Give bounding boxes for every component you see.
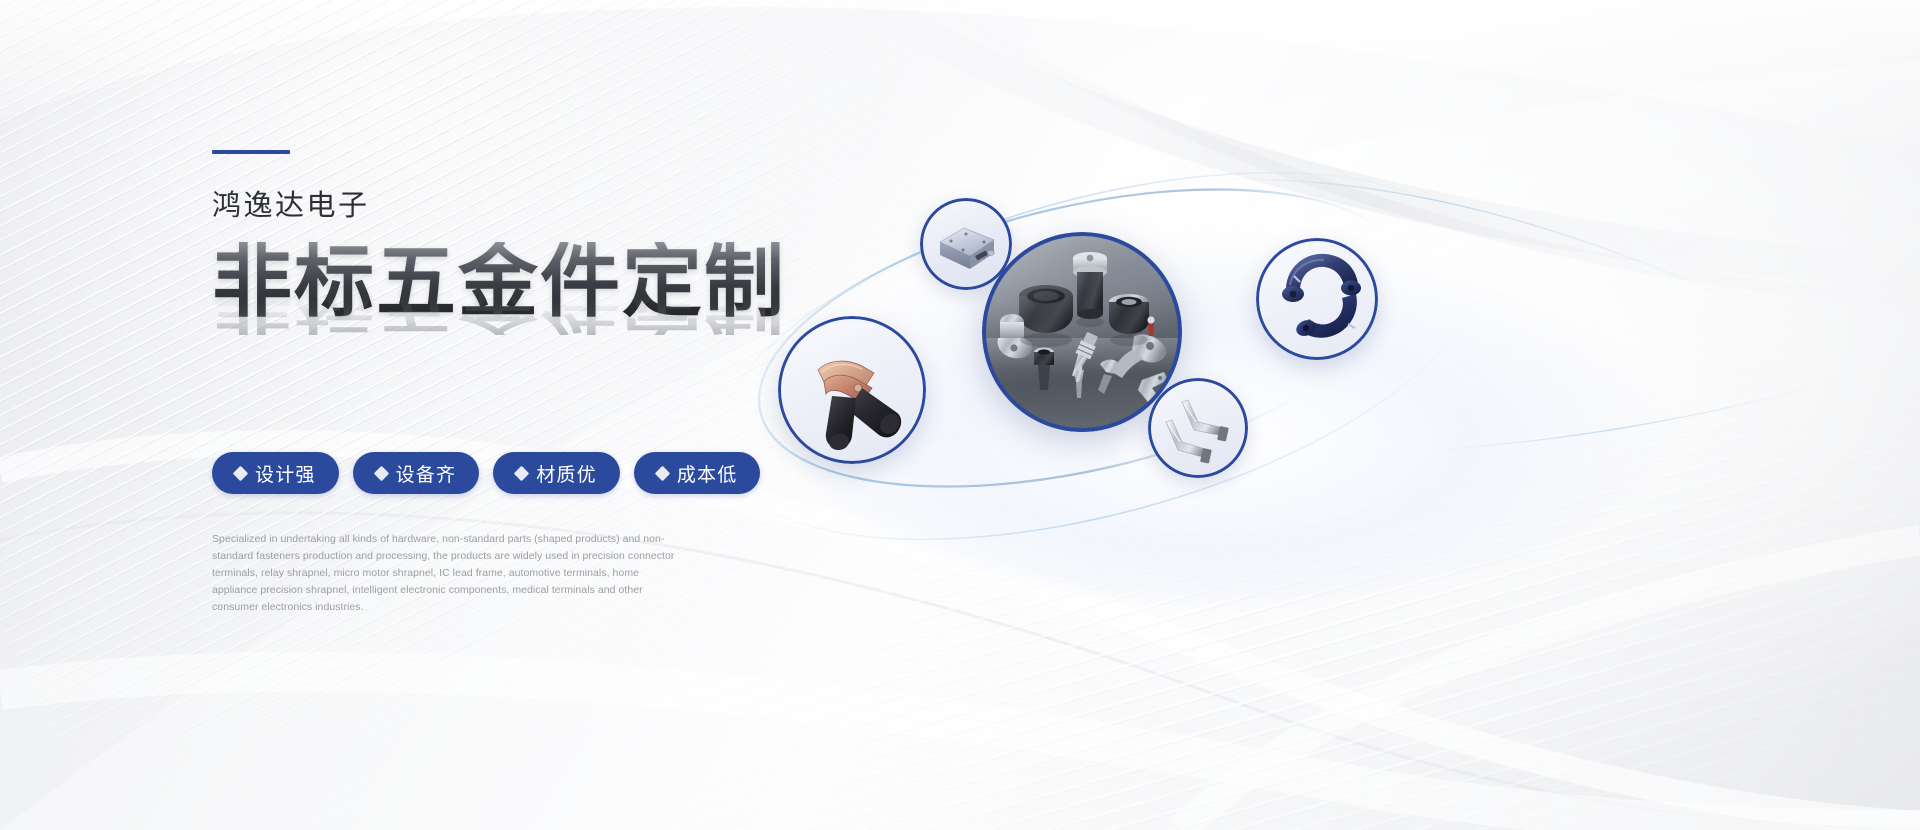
feature-pill-material[interactable]: 材质优 — [493, 452, 620, 494]
diamond-icon — [373, 465, 389, 481]
feature-pill-design[interactable]: 设计强 — [212, 452, 339, 494]
feature-pill-label: 设计强 — [255, 460, 316, 487]
diamond-icon — [514, 465, 530, 481]
retaining-clip-art — [1256, 238, 1378, 360]
node-bent-pins[interactable] — [1148, 378, 1248, 478]
feature-pill-label: 设备齐 — [396, 460, 457, 487]
feature-pill-equipment[interactable]: 设备齐 — [353, 452, 480, 494]
diamond-icon — [655, 465, 671, 481]
hero-banner: 鸿逸达电子 非标五金件定制 非标五金件定制 设计强 设备齐 材质优 成本低 — [0, 0, 1920, 830]
feature-pill-label: 成本低 — [677, 460, 738, 487]
bent-pins-art — [1148, 378, 1248, 478]
feature-pill-label: 材质优 — [536, 460, 597, 487]
battery-clamp-art — [778, 316, 926, 464]
product-collage — [730, 120, 1840, 640]
description-paragraph: Specialized in undertaking all kinds of … — [212, 531, 682, 616]
accent-rule — [212, 150, 290, 154]
diamond-icon — [233, 465, 249, 481]
node-battery-clamp[interactable] — [778, 316, 926, 464]
node-retaining-clip[interactable] — [1256, 238, 1378, 360]
